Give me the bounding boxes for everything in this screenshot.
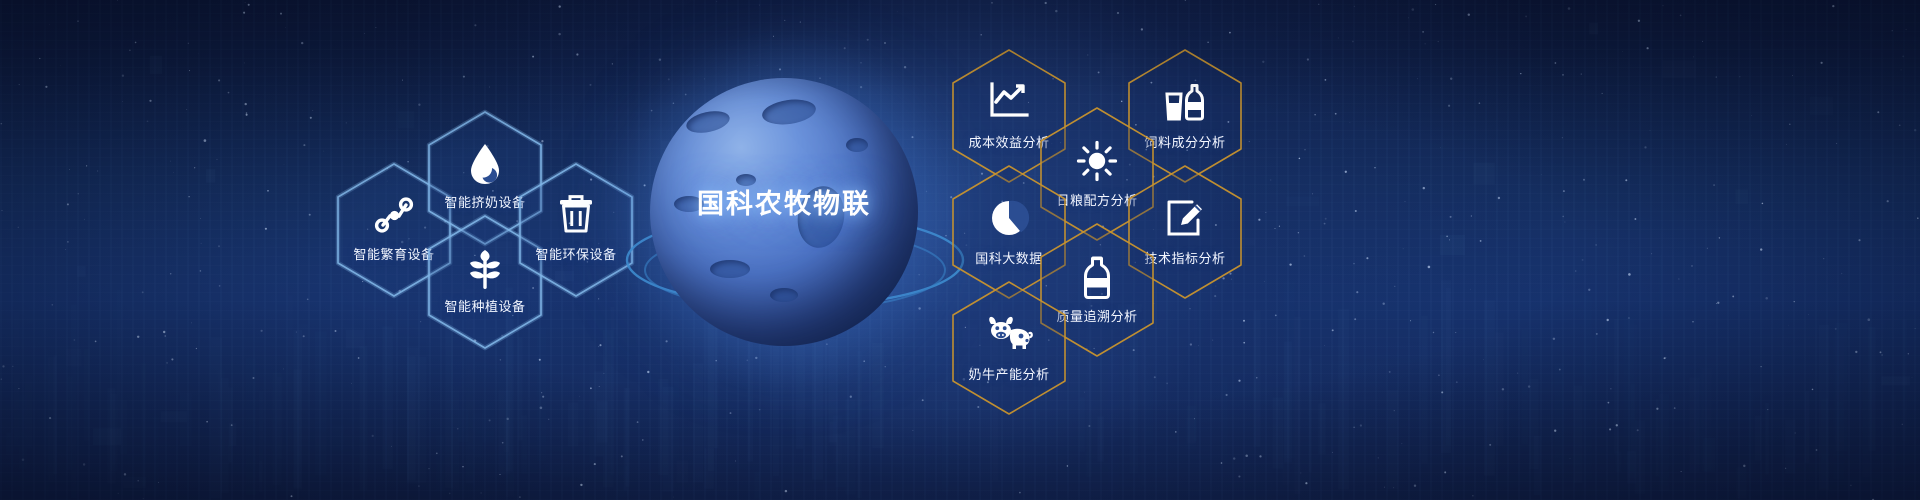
hero-banner: 智能繁育设备智能挤奶设备智能种植设备智能环保设备 国科农牧物联 成本效益分析饲料… <box>0 0 1920 500</box>
planet-graphic: 国科农牧物联 <box>650 78 950 378</box>
hex-tile-label: 奶牛产能分析 <box>934 364 1084 383</box>
cow-icon <box>950 314 1068 352</box>
data-analysis-cluster: 成本效益分析饲料成分分析日粮配方分析国科大数据技术指标分析质量追溯分析奶牛产能分… <box>950 28 1250 358</box>
hex-tile-label: 智能种植设备 <box>410 296 560 315</box>
hex-tile-cow[interactable]: 奶牛产能分析 <box>950 280 1068 416</box>
page-title: 国科农牧物联 <box>664 182 904 221</box>
